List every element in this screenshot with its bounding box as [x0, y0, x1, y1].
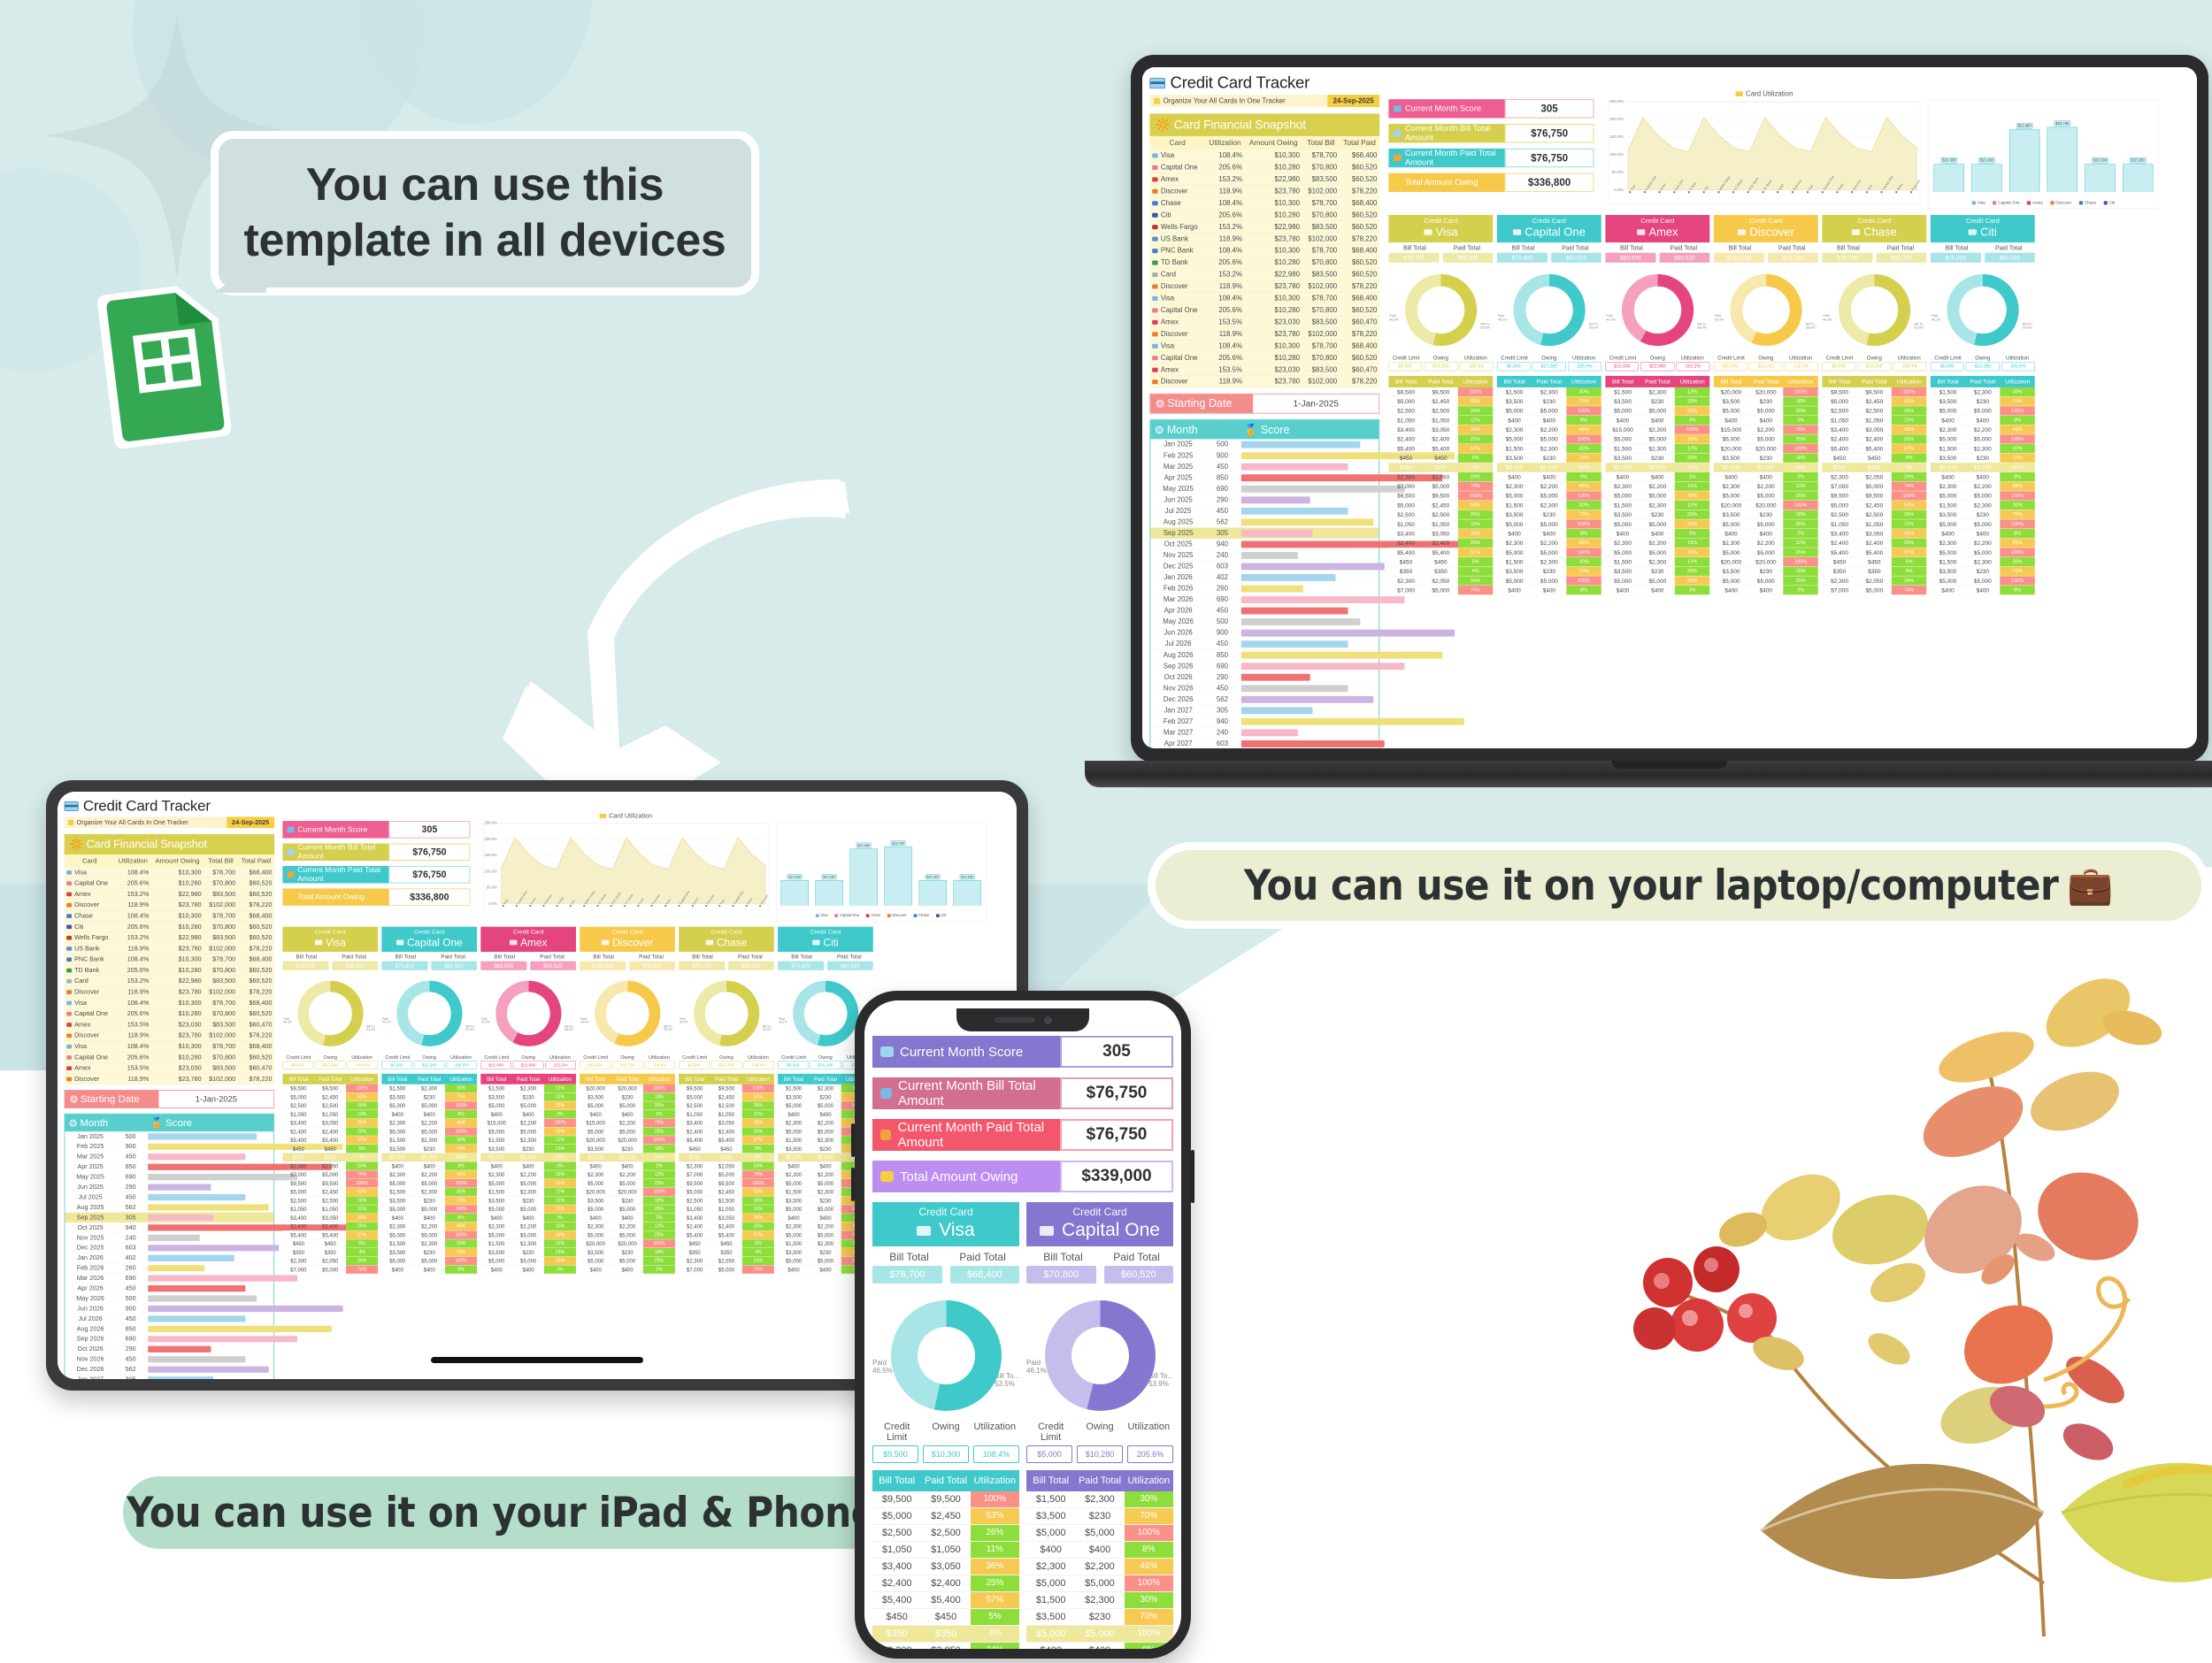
snapshot-bill: $78,700 — [1302, 197, 1340, 209]
mini-bill-total: $2,300 — [480, 1170, 512, 1178]
owing-label: Owing — [710, 1054, 742, 1060]
table-row: $350$3504% — [1388, 463, 1493, 472]
mini-bill-total: $1,500 — [1497, 557, 1532, 566]
y-axis-tick: 50.0% — [487, 885, 497, 890]
paid-total-label: Paid Total — [330, 954, 378, 960]
mini-utilization: 25% — [1783, 548, 1817, 556]
mini-header-cell: Bill Total — [778, 1074, 810, 1084]
bill-total-label: Bill Total — [1388, 244, 1440, 251]
mini-paid-total: $450 — [1424, 557, 1458, 566]
table-row: PNC Bank108.4%$10,300$78,700$68,400 — [65, 954, 274, 964]
mini-bill-total: $350 — [282, 1248, 314, 1256]
credit-card-header: Credit CardCapital One — [1497, 215, 1601, 242]
mini-bill-total: $2,300 — [1388, 472, 1423, 481]
table-row: Capital One205.6%$10,280$70,800$60,520 — [65, 1052, 274, 1062]
mini-utilization: 100% — [1125, 1575, 1173, 1591]
mini-bill-total: $2,400 — [1388, 434, 1423, 443]
credit-limit-value: $15,000 — [480, 1061, 511, 1069]
mini-utilization: 30% — [445, 1084, 477, 1092]
snapshot-header-cell: Card — [1149, 136, 1205, 149]
table-row: Discover118.9%$23,780$102,000$78,220 — [65, 1074, 274, 1084]
card-metric-labels: Credit LimitOwingUtilization — [1026, 1422, 1173, 1443]
mini-bill-total: $1,050 — [679, 1205, 710, 1213]
mini-utilization: 46% — [1566, 539, 1601, 548]
mini-paid-total: $450 — [1857, 454, 1892, 463]
table-row: $5,000$5,00025% — [580, 1257, 675, 1266]
table-row: Amex153.5%$23,030$83,500$60,470 — [65, 1019, 274, 1030]
kpi-card: Current Month Score305 — [282, 821, 470, 839]
mini-bill-total: $3,500 — [778, 1248, 810, 1256]
month-score-row: Feb 2025900 — [65, 1142, 273, 1152]
snapshot-card-name: Card — [65, 976, 115, 986]
snapshot-utilization: 153.5% — [115, 1019, 151, 1030]
snapshot-utilization: 205.6% — [1205, 304, 1245, 316]
month-label: Nov 2026 — [1150, 683, 1206, 694]
month-score-value: 450 — [116, 1314, 146, 1322]
month-score-bar — [1241, 652, 1442, 659]
starting-date-value[interactable]: 1-Jan-2025 — [158, 1091, 273, 1107]
mini-paid-total: $400 — [1965, 586, 2000, 594]
table-row: $1,500$2,30030% — [1931, 557, 2035, 567]
snapshot-paid: $60,520 — [238, 889, 274, 900]
table-row: $2,500$2,50026% — [1388, 510, 1493, 520]
month-score-bar — [148, 1376, 213, 1379]
owing-label: Owing — [1532, 355, 1566, 361]
mini-utilization: 12% — [1675, 444, 1709, 453]
mini-bill-total: $2,300 — [381, 1119, 413, 1127]
mini-paid-total: $2,300 — [1532, 444, 1566, 453]
bar — [849, 848, 877, 906]
month-score-bar-wrap — [146, 1336, 274, 1342]
mini-utilization: 33% — [1675, 406, 1709, 415]
spreadsheet-laptop[interactable]: Credit Card TrackerOrganize Your All Car… — [1142, 67, 2193, 748]
snapshot-bill: $83,500 — [1302, 269, 1340, 280]
mini-paid-total: $2,200 — [1075, 1559, 1124, 1575]
table-row: $400$4008% — [1497, 529, 1601, 539]
mini-paid-total: $230 — [1965, 510, 2000, 519]
bar-data-label: $10,300 — [2092, 157, 2108, 163]
card-metric-values: $15,000$22,980153.2% — [480, 1061, 576, 1069]
kpi-value: 305 — [1060, 1036, 1173, 1068]
credit-card-panel: Credit CardVisaBill TotalPaid Total$78,7… — [1388, 215, 1493, 595]
month-label: Apr 2026 — [1150, 605, 1206, 616]
mini-paid-total: $5,000 — [413, 1179, 445, 1187]
mini-paid-total: $2,450 — [1424, 397, 1458, 406]
mini-paid-total: $2,400 — [921, 1575, 970, 1591]
mini-paid-total: $2,500 — [314, 1101, 346, 1109]
table-row: $2,300$2,20046% — [1931, 539, 2035, 548]
paid-total-value: $60,520 — [827, 962, 873, 970]
table-row: $5,000$5,000100% — [381, 1153, 477, 1162]
mini-paid-total: $2,450 — [314, 1188, 346, 1196]
mini-bill-total: $5,000 — [580, 1231, 611, 1239]
table-row: $3,500$23023% — [480, 1248, 576, 1257]
month-label: Jan 2027 — [65, 1375, 115, 1379]
mini-paid-total: $9,500 — [710, 1179, 742, 1187]
kpi-label: Current Month Paid Total Amount — [1405, 149, 1505, 167]
month-score-row: Aug 2026850 — [65, 1324, 273, 1334]
mini-bill-total: $2,300 — [1497, 482, 1532, 491]
snapshot-card-name: Discover — [1149, 185, 1205, 196]
mini-utilization: 11% — [1892, 416, 1926, 425]
mini-utilization: 70% — [445, 1248, 477, 1256]
card-total-labels: Bill TotalPaid Total — [1026, 1251, 1173, 1263]
table-row: $5,000$5,00033% — [480, 1101, 576, 1110]
mini-header-cell: Paid Total — [710, 1074, 742, 1084]
mini-paid-total: $2,200 — [1748, 425, 1783, 434]
mini-paid-total: $2,200 — [1748, 539, 1783, 548]
mini-paid-total: $400 — [1640, 586, 1675, 594]
table-row: $3,500$23018% — [1714, 397, 1818, 407]
month-score-value: 240 — [1206, 551, 1239, 559]
mini-bill-total: $7,000 — [679, 1266, 710, 1274]
amount-owing-bar-chart: $10,300$10,280$22,980$23,780$10,300$10,2… — [776, 822, 986, 921]
table-row: $400$4008% — [381, 1214, 477, 1222]
utilization-label: Utilization — [1566, 355, 1601, 361]
phone-power-button[interactable] — [1191, 1150, 1194, 1203]
month-score-bar — [1241, 464, 1348, 471]
mini-bill-total: $1,050 — [1388, 416, 1423, 425]
mini-bill-total: $5,000 — [480, 1101, 512, 1109]
mini-header-cell: Utilization — [971, 1470, 1019, 1491]
legend-item: Citi — [936, 914, 947, 918]
mini-bill-total: $400 — [778, 1110, 810, 1118]
table-row: $1,500$2,30030% — [381, 1188, 477, 1197]
mini-bill-total: $3,500 — [580, 1196, 611, 1204]
month-score-row: Jan 2027305 — [65, 1375, 273, 1379]
mini-bill-total: $1,500 — [480, 1136, 512, 1144]
mini-paid-total: $2,400 — [314, 1222, 346, 1230]
donut-chart-wrap: Paid46.1%Bill To...53.9% — [1497, 265, 1601, 355]
donut-paid-note: Paid42.0% — [481, 1017, 490, 1023]
credit-limit-value: $9,500 — [679, 1061, 709, 1069]
table-row: $2,300$2,20046% — [381, 1119, 477, 1128]
table-row: US Bank118.9%$23,780$102,000$78,220 — [65, 943, 274, 954]
bar-data-label: $10,280 — [2130, 157, 2147, 163]
mini-bill-total: $2,400 — [1388, 539, 1423, 548]
mini-bill-total: $1,050 — [282, 1205, 314, 1213]
bill-total-value: $70,800 — [1026, 1266, 1096, 1284]
mini-bill-total: $5,000 — [282, 1188, 314, 1196]
bill-total-value: $70,800 — [778, 962, 824, 970]
table-row: $2,300$2,05024% — [872, 1643, 1019, 1649]
mini-utilization: 24% — [1892, 472, 1926, 481]
mini-utilization: 53% — [1458, 397, 1493, 406]
starting-date-value[interactable]: 1-Jan-2025 — [1253, 395, 1379, 413]
mini-header-cell: Paid Total — [1857, 376, 1892, 387]
mini-paid-total: $230 — [1532, 510, 1566, 519]
snapshot-card-name: Card — [1149, 269, 1205, 280]
mini-paid-total: $5,000 — [810, 1231, 841, 1239]
month-score-row: Feb 2026260 — [65, 1263, 273, 1273]
mini-bill-total: $3,500 — [480, 1196, 512, 1204]
table-row: $1,050$1,05011% — [282, 1110, 378, 1119]
paid-total-label: Paid Total — [726, 954, 774, 960]
month-score-bar — [148, 1295, 257, 1301]
mini-bill-total: $5,400 — [282, 1231, 314, 1239]
table-row: $2,300$2,20046% — [1931, 482, 2035, 492]
month-score-bar — [1241, 585, 1303, 592]
mini-bill-total: $2,300 — [1931, 539, 1965, 548]
donut-paid-note: Paid46.5% — [680, 1017, 688, 1023]
table-row: $3,500$23070% — [1497, 454, 1601, 464]
mini-utilization: 57% — [346, 1231, 378, 1239]
mini-bill-total: $2,300 — [1931, 482, 1965, 491]
donut-bill-note: Bill To...53.9% — [465, 1025, 476, 1031]
table-row: $2,400$2,40025% — [1822, 539, 1926, 548]
mini-bill-total: $400 — [1931, 529, 1965, 538]
month-score-row: Jun 2025290 — [65, 1182, 273, 1192]
mini-bill-total: $1,500 — [1497, 501, 1532, 510]
bill-total-value: $78,700 — [282, 962, 328, 970]
credit-card-kicker: Credit Card — [480, 929, 576, 936]
mini-paid-total: $230 — [1532, 397, 1566, 406]
mini-bill-total: $1,050 — [282, 1110, 314, 1118]
y-axis-tick: 150.0% — [1609, 134, 1624, 139]
table-row: $5,000$5,00025% — [1714, 519, 1818, 529]
laptop-screen[interactable]: Credit Card TrackerOrganize Your All Car… — [1142, 67, 2197, 748]
table-row: $7,000$5,00074% — [679, 1266, 774, 1275]
credit-card-header: Credit CardDiscover — [1714, 215, 1818, 242]
table-row: $450$4505% — [1388, 454, 1493, 464]
mini-utilization: 3% — [1675, 472, 1709, 481]
mini-utilization: 70% — [1566, 567, 1601, 576]
mini-utilization: 30% — [1125, 1592, 1173, 1608]
month-score-row: Aug 2026850 — [1150, 649, 1379, 661]
mini-bill-total: $20,000 — [580, 1239, 611, 1247]
month-label: Dec 2025 — [65, 1243, 115, 1253]
month-label: Jan 2026 — [1150, 572, 1206, 583]
snapshot-bill: $70,800 — [204, 1008, 237, 1019]
mini-paid-total: $5,000 — [810, 1153, 841, 1161]
amount-owing-bar-chart: $10,300$10,280$22,980$23,780$10,300$10,2… — [1929, 100, 2159, 209]
donut-bill-note: Bill To...58.0% — [1697, 323, 1709, 330]
mini-utilization: 3% — [1675, 529, 1709, 538]
mini-paid-total: $1,050 — [1857, 519, 1892, 528]
month-score-row: Jul 2025450 — [1150, 506, 1379, 517]
table-row: $5,000$5,000100% — [381, 1101, 477, 1110]
mini-table-header: Bill TotalPaid TotalUtilization — [1026, 1470, 1173, 1491]
mini-paid-total: $2,300 — [810, 1084, 841, 1092]
table-row: $450$4505% — [679, 1239, 774, 1248]
snapshot-utilization: 118.9% — [115, 986, 151, 997]
month-score-row: Jul 2025450 — [65, 1192, 273, 1202]
donut-paid-note: Paid46.5% — [283, 1017, 292, 1023]
bar-data-label: $10,280 — [960, 874, 975, 879]
starting-date-label: Starting Date — [65, 1091, 158, 1107]
month-score-value: 500 — [1206, 441, 1239, 448]
mini-paid-total: $230 — [611, 1196, 643, 1204]
mini-paid-total: $2,300 — [1075, 1592, 1124, 1608]
mini-bill-total: $3,400 — [1388, 529, 1423, 538]
mini-bill-total: $3,400 — [872, 1559, 921, 1575]
credit-limit-value: $5,000 — [1931, 362, 1964, 371]
mini-paid-total: $2,300 — [512, 1188, 544, 1196]
mini-paid-total: $5,000 — [413, 1231, 445, 1239]
mini-utilization: 4% — [346, 1153, 378, 1161]
month-score-bar — [1241, 696, 1374, 703]
snapshot-card-name: Visa — [1149, 340, 1205, 351]
credit-limit-label: Credit Limit — [1714, 355, 1748, 361]
snapshot-owing: $10,280 — [1245, 304, 1302, 316]
table-row: $2,300$2,05024% — [1388, 472, 1493, 482]
mini-utilization: 3% — [544, 1110, 576, 1118]
mini-utilization: 100% — [2000, 406, 2034, 415]
snapshot-owing: $10,280 — [1245, 352, 1302, 364]
month-score-row: Feb 2026260 — [1150, 583, 1379, 594]
mini-paid-total: $3,050 — [921, 1559, 970, 1575]
credit-card-kicker: Credit Card — [1026, 1206, 1173, 1218]
tablet-home-indicator[interactable] — [431, 1357, 643, 1363]
mini-paid-total: $230 — [1075, 1609, 1124, 1625]
mini-header-cell: Bill Total — [381, 1074, 413, 1084]
card-total-values: $78,700$68,400 — [872, 1266, 1019, 1284]
paid-total-label: Paid Total — [1874, 244, 1926, 251]
x-axis: ◆ Visa◆ Capital One◆ Amex◆ Discover◆ Cha… — [1627, 191, 1917, 203]
mini-paid-total: $350 — [314, 1153, 346, 1161]
month-score-bar-wrap — [1239, 640, 1379, 648]
bill-total-label: Bill Total — [580, 954, 627, 960]
mini-paid-total: $450 — [1424, 454, 1458, 463]
paid-total-value: $78,220 — [1768, 253, 1818, 263]
mini-bill-total: $2,300 — [580, 1170, 611, 1178]
kpi-value: 305 — [1505, 99, 1594, 118]
snapshot-bill: $83,500 — [204, 1062, 237, 1073]
table-row: $2,400$2,40025% — [679, 1222, 774, 1231]
mini-table-header: Bill TotalPaid TotalUtilization — [1822, 376, 1926, 387]
bill-total-value: $83,500 — [1605, 253, 1655, 263]
card-metric-labels: Credit LimitOwingUtilization — [1931, 355, 2035, 361]
table-row: $7,000$5,00074% — [679, 1170, 774, 1179]
mini-bill-total: $20,000 — [1714, 387, 1748, 396]
mini-paid-total: $400 — [1965, 416, 2000, 425]
mini-paid-total: $2,300 — [1965, 501, 2000, 510]
phone-screen[interactable]: Current Month Score305Current Month Bill… — [864, 1000, 1181, 1649]
mini-bill-total: $450 — [679, 1239, 710, 1247]
table-row: $1,500$2,30030% — [1497, 387, 1601, 397]
snapshot-paid: $60,520 — [238, 921, 274, 931]
credit-limit-value: $15,000 — [1605, 362, 1639, 371]
mini-paid-total: $400 — [810, 1214, 841, 1222]
mini-bill-total: $7,000 — [1388, 482, 1423, 491]
credit-card-header: Credit CardCapital One — [1026, 1202, 1173, 1246]
mini-bill-total: $5,000 — [778, 1257, 810, 1265]
table-row: $20,000$20,000100% — [580, 1188, 675, 1197]
mini-bill-total: $400 — [1026, 1542, 1075, 1558]
kpi-icon — [287, 871, 294, 877]
donut-paid-note: Paid46.5% — [1389, 314, 1399, 321]
mini-bill-total: $20,000 — [580, 1136, 611, 1144]
snapshot-paid: $60,470 — [1340, 364, 1379, 375]
kpi-label: Total Amount Owing — [1405, 178, 1479, 188]
month-score-bar-wrap — [1239, 718, 1379, 725]
sheet-subtitle-row: Organize Your All Cards In One Tracker24… — [65, 816, 274, 828]
mini-paid-total: $5,000 — [1965, 519, 2000, 528]
table-row: Visa108.4%$10,300$78,700$68,400 — [65, 998, 274, 1008]
mini-header-cell: Utilization — [544, 1074, 576, 1084]
mini-paid-total: $9,500 — [1424, 491, 1458, 500]
mini-paid-total: $5,000 — [1532, 491, 1566, 500]
bill-total-label: Bill Total — [1714, 244, 1766, 251]
mini-paid-total: $2,450 — [314, 1092, 346, 1100]
mini-paid-total: $5,000 — [1857, 482, 1892, 491]
utilization-value: 108.4% — [1893, 362, 1926, 371]
table-row: $9,500$9,500100% — [679, 1084, 774, 1093]
month-score-bar-wrap — [1239, 474, 1379, 481]
mini-utilization: 25% — [1892, 434, 1926, 443]
legend-item: Capital One — [834, 914, 859, 918]
table-row: $1,500$2,30012% — [1605, 501, 1709, 510]
table-row: $5,000$2,45053% — [679, 1188, 774, 1197]
month-score-row: Dec 2026562 — [1150, 694, 1379, 706]
table-row: $1,500$2,30030% — [381, 1084, 477, 1093]
month-score-bar-wrap — [1239, 685, 1379, 692]
bar-data-label: $10,300 — [787, 874, 803, 879]
table-row: Citi205.6%$10,280$70,800$60,520 — [65, 921, 274, 931]
mini-utilization: 5% — [1892, 557, 1926, 566]
mini-utilization: 26% — [1892, 406, 1926, 415]
mini-paid-total: $400 — [611, 1214, 643, 1222]
kpi-label-box: Current Month Bill Total Amount — [282, 844, 388, 862]
mini-utilization: 25% — [643, 1127, 675, 1135]
month-score-bar — [1241, 496, 1310, 503]
credit-card-panel: Credit CardDiscoverBill TotalPaid Total$… — [580, 927, 675, 1275]
laptop-device: Credit Card TrackerOrganize Your All Car… — [1131, 55, 2208, 763]
mini-header-cell: Paid Total — [314, 1074, 346, 1084]
credit-card-name: Visa — [872, 1220, 1019, 1241]
donut-chart — [694, 980, 759, 1046]
mini-utilization: 33% — [1675, 548, 1709, 556]
utilization-label: Utilization — [2000, 355, 2034, 361]
mini-paid-total: $5,000 — [1965, 463, 2000, 471]
snapshot-card-name: TD Bank — [65, 965, 115, 976]
mini-header-cell: Utilization — [445, 1074, 477, 1084]
credit-card-icon — [65, 801, 79, 811]
mini-utilization: 70% — [1125, 1508, 1173, 1524]
month-score-bar-wrap — [1239, 740, 1379, 747]
month-score-value: 562 — [116, 1204, 146, 1211]
kpi-card: Current Month Paid Total Amount$76,750 — [1388, 149, 1594, 167]
month-score-row: Nov 2025240 — [65, 1233, 273, 1243]
mini-bill-total: $2,500 — [1822, 406, 1856, 415]
mini-paid-total: $400 — [1532, 472, 1566, 481]
donut-bill-note: Bill To...53.5% — [763, 1025, 773, 1031]
snapshot-card-name: Discover — [65, 900, 115, 910]
snapshot-bill: $70,800 — [204, 965, 237, 976]
credit-card-panel: Credit CardDiscoverBill TotalPaid Total$… — [1714, 215, 1818, 595]
snapshot-header-cell: Amount Owing — [1245, 136, 1302, 149]
starting-date-row: Starting Date1-Jan-2025 — [65, 1090, 274, 1108]
mini-utilization: 24% — [1892, 576, 1926, 585]
phone-sheet-content[interactable]: Current Month Score305Current Month Bill… — [864, 1000, 1181, 1649]
mini-utilization: 100% — [1892, 491, 1926, 500]
table-row: $400$4008% — [1497, 472, 1601, 482]
owing-label: Owing — [921, 1422, 970, 1443]
mini-utilization: 100% — [1566, 519, 1601, 528]
mini-utilization: 25% — [971, 1575, 1019, 1591]
mini-bill-total: $5,000 — [381, 1101, 413, 1109]
mini-utilization: 100% — [1566, 406, 1601, 415]
month-score-bar — [1241, 518, 1374, 525]
mini-bill-total: $20,000 — [1714, 444, 1748, 453]
table-row: $3,400$3,05036% — [1822, 529, 1926, 539]
month-score-row: Sep 2026690 — [65, 1334, 273, 1344]
snapshot-paid: $68,400 — [1340, 340, 1379, 351]
mini-utilization: 4% — [346, 1248, 378, 1256]
table-row: $3,400$3,05036% — [872, 1559, 1019, 1575]
snapshot-owing: $10,300 — [1245, 340, 1302, 351]
bar-column: $22,980 — [849, 826, 877, 906]
